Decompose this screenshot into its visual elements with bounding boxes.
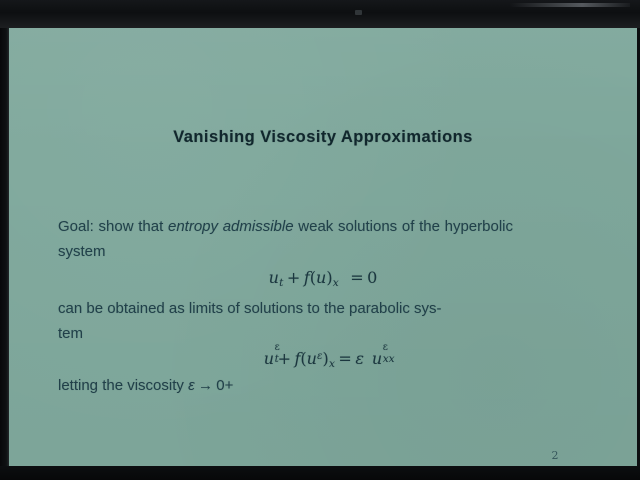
equation-2-flux-argument: u [307, 349, 317, 368]
equation-1-flux-argument: u [316, 268, 326, 287]
page-number: 2 [9, 449, 640, 462]
paragraph-viscosity-text: letting the viscosity [58, 377, 188, 394]
equation-2-u: u [264, 349, 274, 368]
paragraph-viscosity-limit: letting the viscosity ε→0+ [58, 373, 513, 398]
video-frame: Vanishing Viscosity Approximations Goal:… [0, 0, 640, 480]
equation-2-rhs-subscript-xx: xx [383, 353, 395, 365]
equation-1-rhs-zero: 0 [367, 268, 377, 287]
paragraph-parabolic-line-1: can be obtained as limits of solutions t… [58, 300, 442, 317]
paragraph-goal-text-before: Goal: show that [58, 218, 168, 235]
equation-2-rhs-u: u [372, 349, 382, 368]
slide-title: Vanishing Viscosity Approximations [9, 128, 637, 147]
equation-2-equals: = [335, 349, 355, 368]
letterbox-bar-top [0, 0, 640, 28]
equation-2-u-superscript-epsilon: ε [275, 342, 280, 353]
lecture-slide: Vanishing Viscosity Approximations Goal:… [9, 28, 637, 466]
equation-2-flux-subscript-x: x [329, 358, 335, 370]
paragraph-viscosity-epsilon: ε [188, 377, 195, 394]
paragraph-goal: Goal: show that entropy admissible weak … [58, 214, 513, 264]
equation-2-epsilon-coefficient: ε [355, 349, 364, 368]
camera-artifact-dot [355, 10, 362, 15]
equation-hyperbolic-system: ut+f(u)x=0 [9, 268, 637, 289]
equation-2-u-subscript-t: t [275, 353, 279, 365]
equation-2-close-paren: ) [323, 349, 329, 368]
paragraph-viscosity-arrow: → [195, 377, 217, 394]
equation-1-plus: + [283, 268, 303, 287]
equation-1-flux-subscript-x: x [333, 277, 339, 289]
paragraph-goal-emphasis: entropy admissible [168, 218, 294, 235]
equation-1-close-paren: ) [326, 268, 332, 287]
paragraph-parabolic-line-2: tem [58, 325, 83, 342]
letterbox-bar-left [0, 28, 9, 466]
letterbox-bar-bottom [0, 466, 640, 480]
equation-1-equals: = [347, 268, 367, 287]
equation-1-u: u [269, 268, 279, 287]
glare-highlight [510, 3, 630, 7]
paragraph-parabolic-intro: can be obtained as limits of solutions t… [58, 296, 513, 346]
paragraph-viscosity-limit-value: 0+ [216, 377, 233, 394]
slide-content: Vanishing Viscosity Approximations Goal:… [9, 28, 637, 466]
equation-parabolic-system: uεt+f(uε)x=εuεxx [9, 348, 637, 370]
equation-2-rhs-superscript-epsilon: ε [383, 342, 388, 353]
